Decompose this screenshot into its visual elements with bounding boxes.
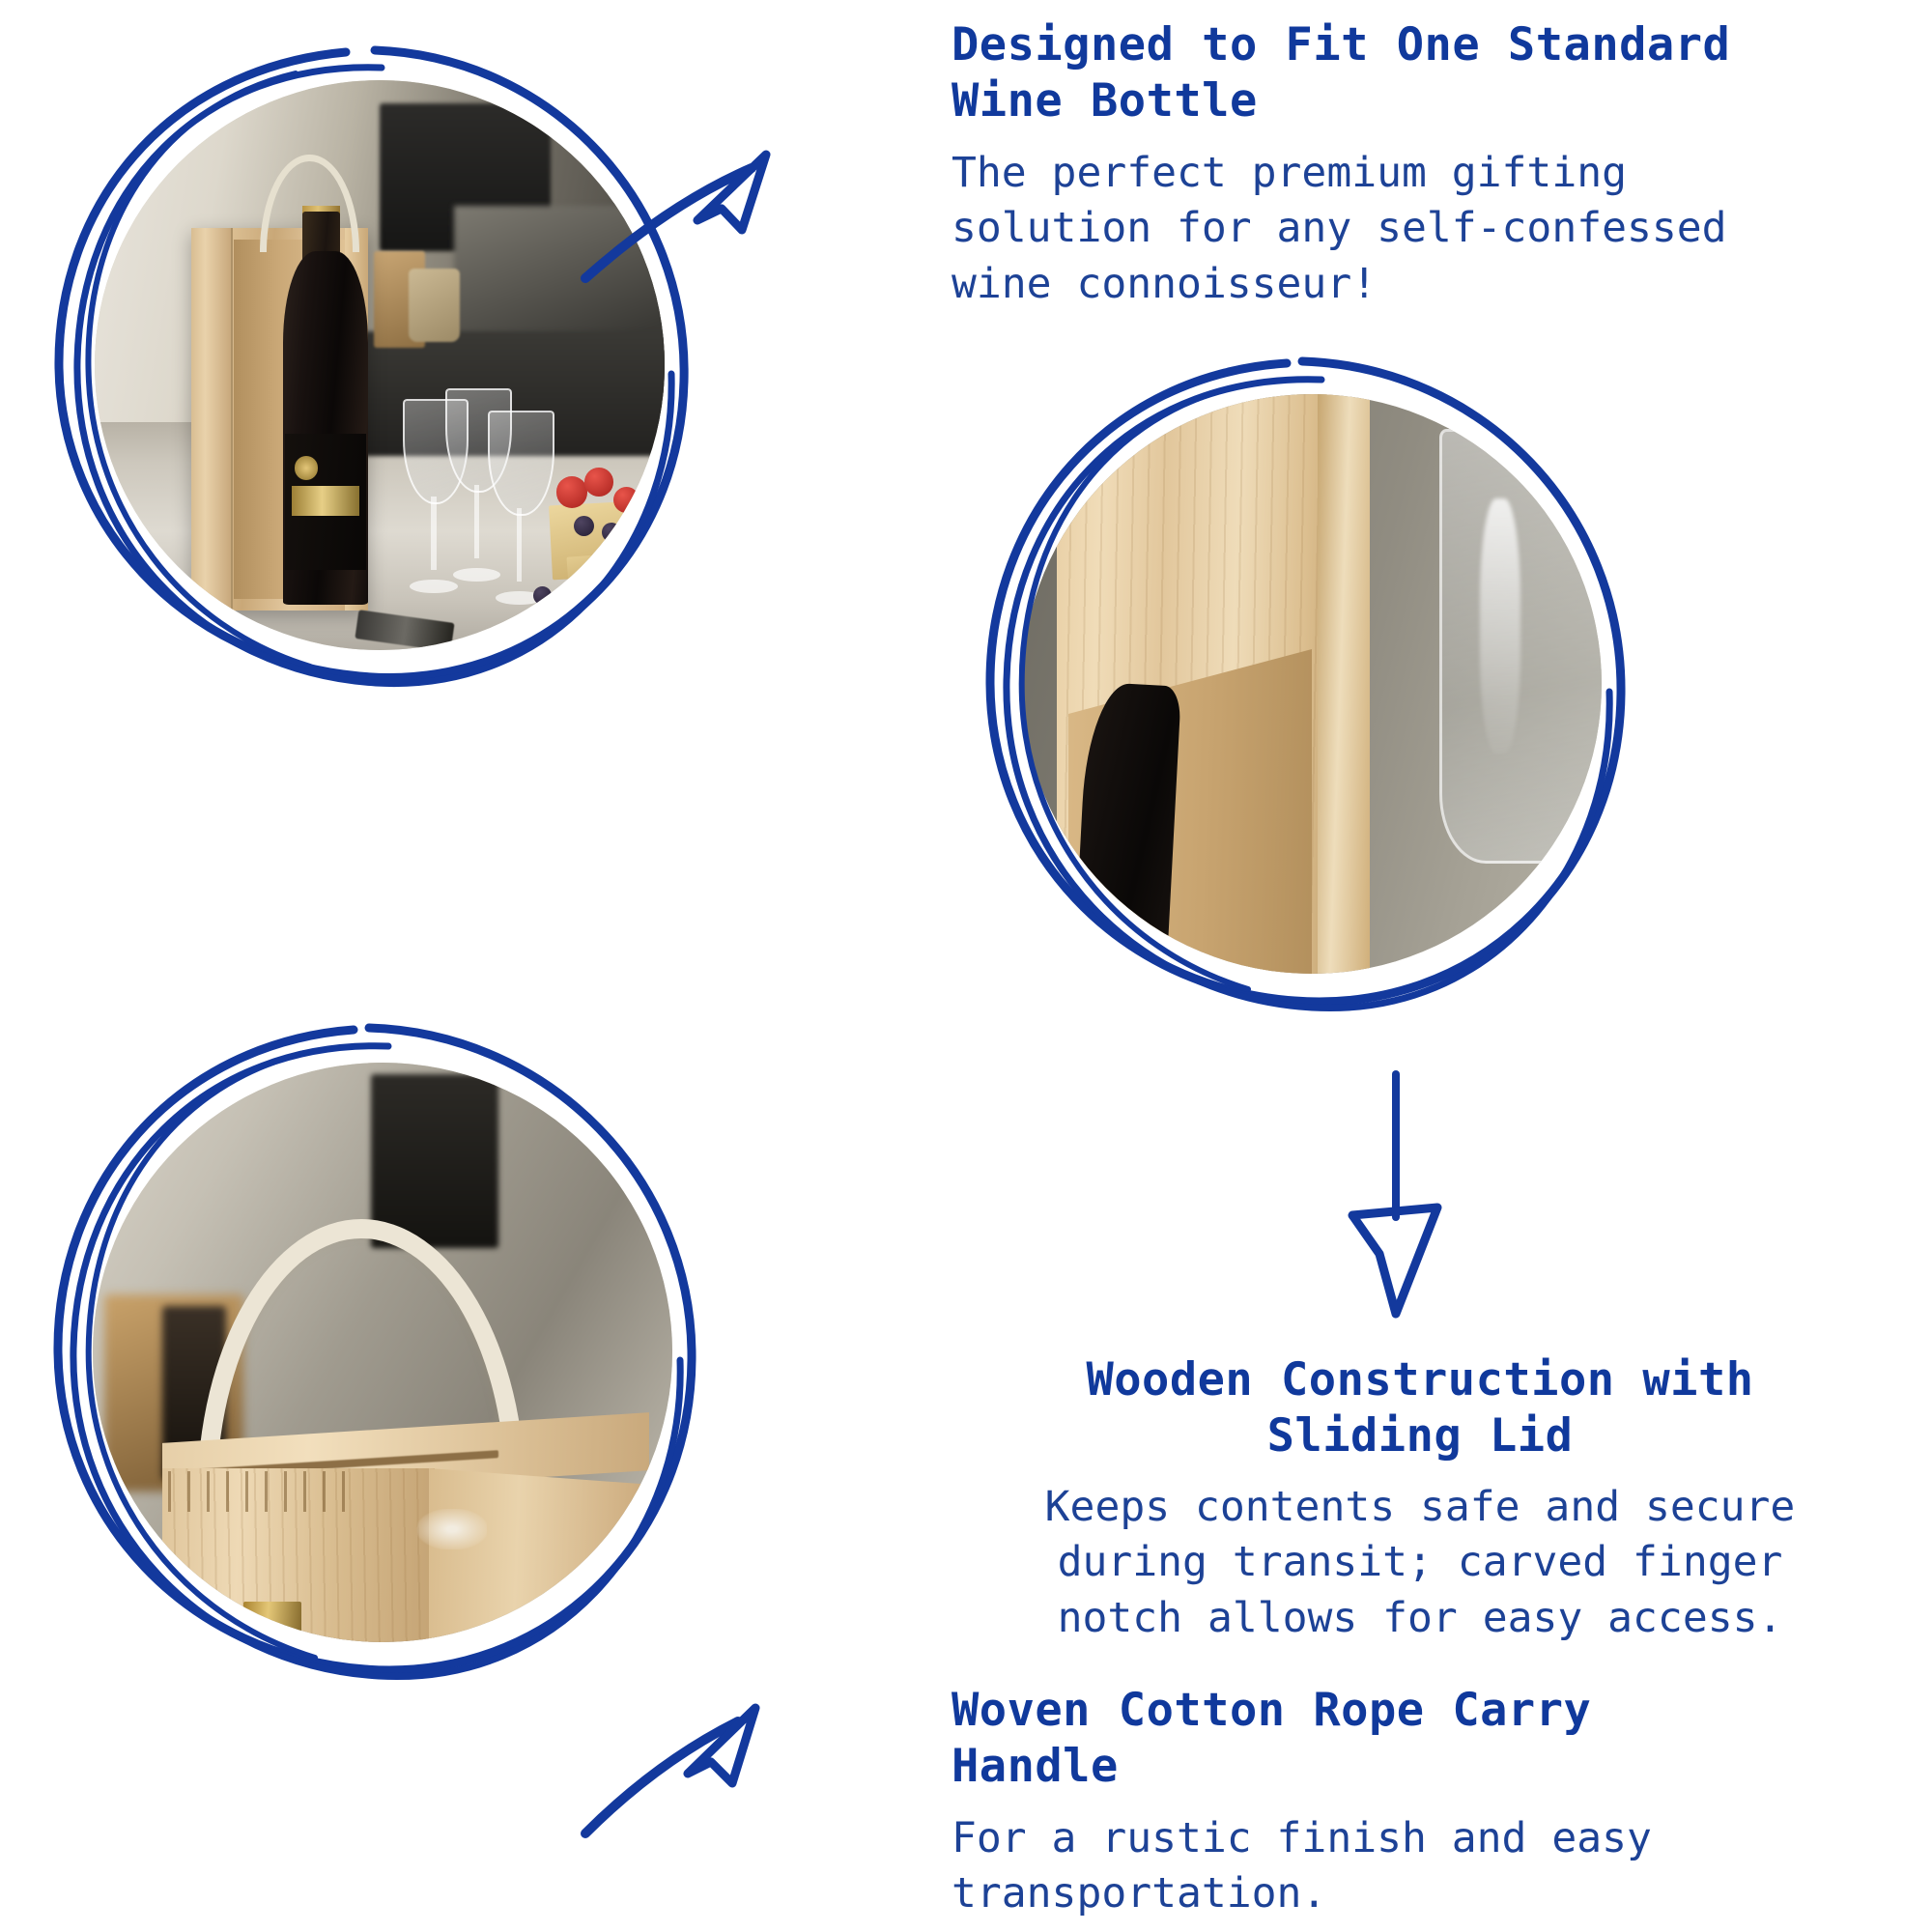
blueberry	[625, 563, 643, 582]
feature-block-wooden-construction: Wooden Construction with Sliding Lid Kee…	[927, 1352, 1913, 1646]
feature-block-rope-handle: Woven Cotton Rope Carry Handle For a rus…	[952, 1683, 1879, 1922]
bottle-label	[285, 434, 366, 571]
feature-block-fit-one-bottle: Designed to Fit One Standard Wine Bottle…	[952, 17, 1879, 312]
photo-rope-handle	[93, 1063, 672, 1642]
photo3-scene	[93, 1063, 672, 1642]
feature-body: Keeps contents safe and secure during tr…	[927, 1480, 1913, 1647]
wine-glass	[488, 411, 551, 605]
blueberry	[602, 523, 621, 542]
glass-highlight	[1480, 498, 1520, 753]
photo2-scene	[1022, 394, 1602, 974]
box-sliding-lid	[191, 228, 232, 610]
photo-frame-bottle-in-box	[39, 34, 705, 700]
cherry-tomato	[584, 468, 613, 497]
dovetail-joints	[168, 1471, 359, 1512]
blueberry	[562, 605, 580, 622]
feature-heading: Woven Cotton Rope Carry Handle	[952, 1683, 1879, 1795]
photo1-scene	[95, 80, 665, 650]
arrow-down-icon	[1323, 1072, 1468, 1323]
salt-jar	[409, 269, 460, 343]
blueberry	[533, 586, 552, 605]
infographic-canvas: Designed to Fit One Standard Wine Bottle…	[0, 0, 1932, 1932]
feature-body: The perfect premium gifting solution for…	[952, 146, 1879, 313]
wine-glass	[1439, 429, 1602, 864]
feature-body: For a rustic finish and easy transportat…	[952, 1811, 1879, 1922]
photo-bottle-in-box	[95, 80, 665, 650]
cheese-wedge	[566, 550, 665, 602]
feature-heading: Designed to Fit One Standard Wine Bottle	[952, 17, 1879, 129]
cherry-tomato	[556, 476, 587, 507]
photo-frame-rope-handle	[35, 1014, 711, 1690]
blurred-appliance	[371, 1074, 498, 1248]
frayed-rope-end	[417, 1509, 487, 1549]
lid-rail	[1318, 394, 1370, 974]
bottle-capsule-peek	[243, 1602, 301, 1642]
feature-heading: Wooden Construction with Sliding Lid	[927, 1352, 1913, 1464]
photo-sliding-lid	[1022, 394, 1602, 974]
photo-frame-sliding-lid	[966, 348, 1642, 1024]
blueberry	[574, 516, 594, 536]
box-side-face	[429, 1468, 649, 1642]
